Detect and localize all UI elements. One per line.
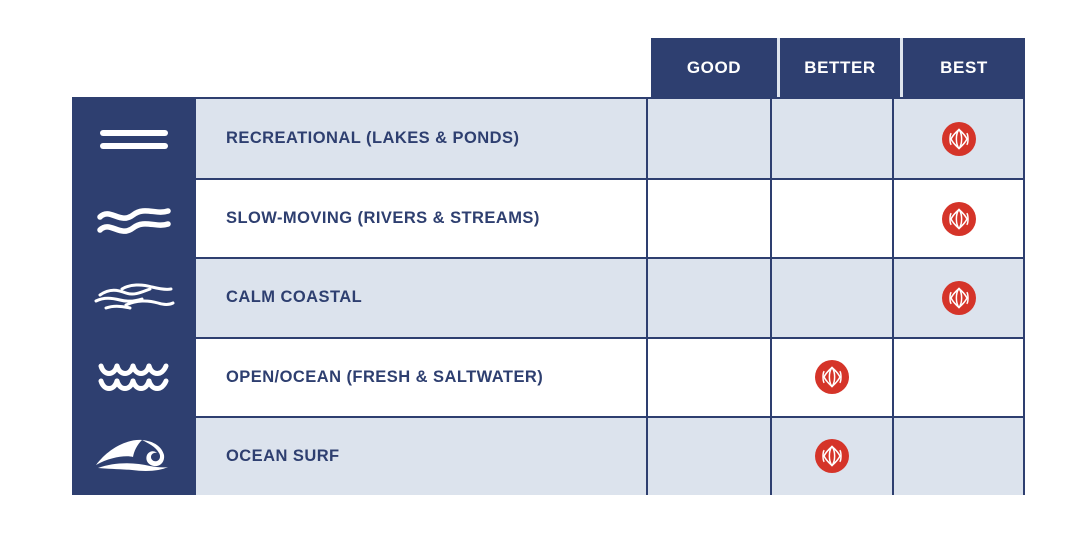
cell-better [772,99,894,178]
cell-better [772,180,894,257]
header-label-best: BEST [940,58,988,78]
cell-best [894,259,1023,336]
cell-good [648,99,772,178]
cell-better [772,339,894,416]
cell-good [648,259,772,336]
table-row: SLOW-MOVING (RIVERS & STREAMS) [74,178,1023,257]
header-cell-good: GOOD [651,38,777,97]
ripple-wave-icon [92,281,176,315]
brand-emblem-icon [820,365,844,389]
icon-cell [74,339,196,416]
choppy-wave-icon [97,358,171,396]
rating-badge [942,281,976,315]
brand-emblem-icon [947,207,971,231]
table-header: GOOD BETTER BEST [651,38,1025,97]
header-cell-better: BETTER [777,38,900,97]
table-row: OCEAN SURF [74,416,1023,495]
cell-good [648,339,772,416]
table-row: RECREATIONAL (LAKES & PONDS) [74,99,1023,178]
icon-cell [74,99,196,178]
cell-best [894,99,1023,178]
brand-emblem-icon [947,286,971,310]
cell-better [772,418,894,495]
header-label-better: BETTER [804,58,876,78]
row-label: CALM COASTAL [196,259,648,336]
cell-good [648,180,772,257]
icon-cell [74,259,196,336]
gentle-wave-icon [96,200,172,238]
header-label-good: GOOD [687,58,741,78]
rating-badge [815,439,849,473]
suitability-matrix: GOOD BETTER BEST RECREATIONAL (LAKES & P… [0,0,1076,534]
row-label: OPEN/OCEAN (FRESH & SALTWATER) [196,339,648,416]
cell-best [894,339,1023,416]
rating-badge [942,202,976,236]
rating-badge [942,122,976,156]
brand-emblem-icon [947,127,971,151]
table-row: OPEN/OCEAN (FRESH & SALTWATER) [74,337,1023,416]
row-label: RECREATIONAL (LAKES & PONDS) [196,99,648,178]
rating-badge [815,360,849,394]
flat-water-icon [98,122,170,156]
brand-emblem-icon [820,444,844,468]
row-label: OCEAN SURF [196,418,648,495]
breaking-wave-icon [90,435,178,477]
table-row: CALM COASTAL [74,257,1023,336]
header-cell-best: BEST [900,38,1025,97]
row-label: SLOW-MOVING (RIVERS & STREAMS) [196,180,648,257]
cell-good [648,418,772,495]
cell-best [894,418,1023,495]
icon-cell [74,418,196,495]
cell-best [894,180,1023,257]
cell-better [772,259,894,336]
icon-cell [74,180,196,257]
table-body: RECREATIONAL (LAKES & PONDS) [72,97,1025,495]
